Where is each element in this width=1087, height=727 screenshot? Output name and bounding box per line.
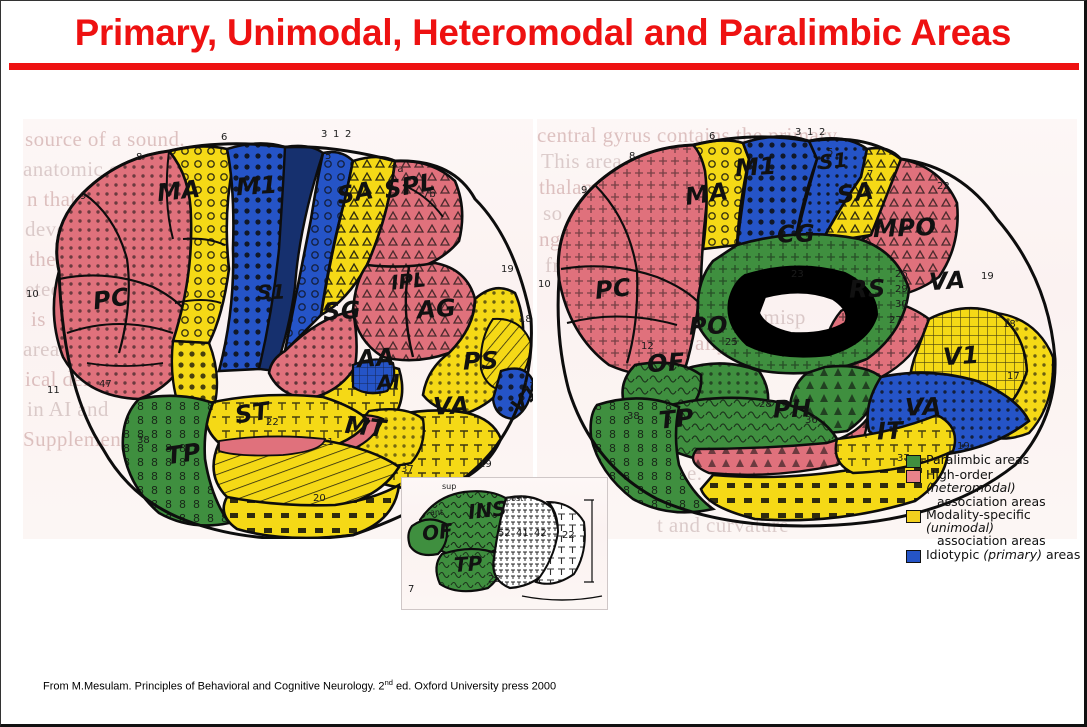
legend-label-continuation: association areas	[937, 534, 1081, 547]
legend-label: Paralimbic areas	[926, 453, 1029, 466]
figure-lateral-hemisphere: source of a sound.anatomic organi-n that…	[23, 119, 533, 539]
legend-color-swatch	[906, 470, 921, 483]
legend-item: Modality-specific (unimodal)	[906, 508, 1081, 535]
legend-label: Modality-specific (unimodal)	[926, 508, 1081, 535]
legend-label-italic: (heteromodal)	[926, 480, 1016, 495]
legend-label-continuation: association areas	[937, 495, 1081, 508]
lateral-brain-svg: 8	[23, 119, 533, 539]
legend-item: High-order (heteromodal)	[906, 468, 1081, 495]
insula-inset-svg	[402, 478, 607, 609]
page-title: Primary, Unimodal, Heteromodal and Paral…	[75, 12, 1011, 54]
caption-superscript: nd	[385, 678, 393, 687]
figure-insula-inset: INSOFTP supantpost52414222227	[401, 477, 608, 610]
legend-item: Idiotypic (primary) areas	[906, 548, 1081, 563]
legend-color-swatch	[906, 510, 921, 523]
corpus-callosum	[728, 266, 877, 356]
legend-color-swatch	[906, 455, 921, 468]
legend-label-main: Paralimbic areas	[926, 452, 1029, 467]
region-inset-of-paralimbic	[408, 519, 447, 555]
legend-label-main: Idiotypic	[926, 547, 983, 562]
title-divider	[9, 63, 1079, 70]
legend-label-tail: areas	[1042, 547, 1080, 562]
legend-color-swatch	[906, 550, 921, 563]
legend-label-italic: (primary)	[983, 547, 1042, 562]
region-ai-idiotypic	[353, 359, 394, 393]
caption-suffix: ed. Oxford University press 2000	[393, 681, 556, 693]
legend-label: Idiotypic (primary) areas	[926, 548, 1080, 561]
region-inset-tp-paralimbic	[436, 549, 500, 591]
source-caption: From M.Mesulam. Principles of Behavioral…	[43, 678, 556, 693]
legend: Paralimbic areasHigh-order (heteromodal)…	[906, 453, 1081, 563]
title-bar: Primary, Unimodal, Heteromodal and Paral…	[9, 5, 1077, 61]
legend-label: High-order (heteromodal)	[926, 468, 1081, 495]
region-medial-prefrontal-heteromodal	[558, 145, 713, 375]
caption-prefix: From M.Mesulam. Principles of Behavioral…	[43, 681, 385, 693]
legend-item: Paralimbic areas	[906, 453, 1081, 468]
slide: Primary, Unimodal, Heteromodal and Paral…	[0, 0, 1087, 727]
